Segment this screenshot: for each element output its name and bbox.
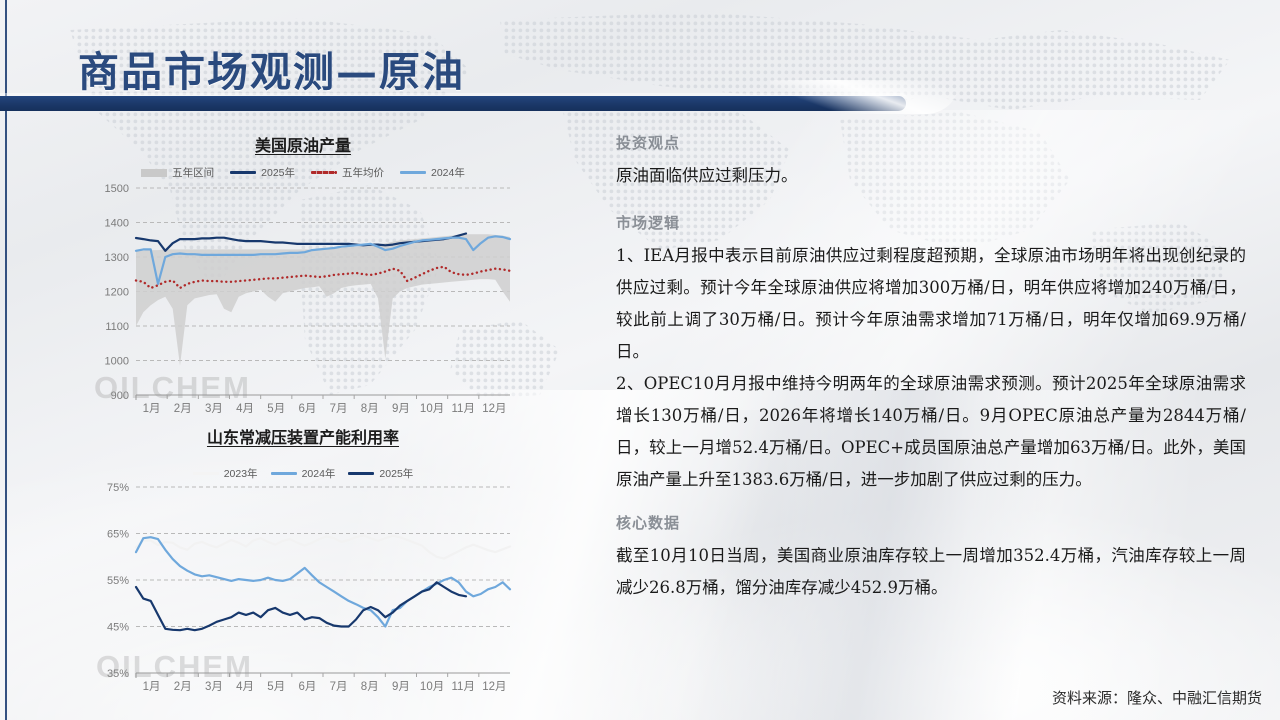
chart1-legend: 五年区间 2025年 五年均价 2024年 [88,165,518,180]
x-axis-tick-label: 9月 [392,681,410,693]
chart-shandong-cdu-utilization: 山东常减压装置产能利用率 2023年 2024年 2025年 35%45%55%… [88,424,518,703]
y-axis-tick-label: 75% [107,482,129,494]
section-paragraph: 2、OPEC10月月报中维持今明两年的全球原油需求预测。预计2025年全球原油需… [616,368,1246,496]
legend-label: 2023年 [224,466,258,481]
section-paragraph: 原油面临供应过剩压力。 [616,160,1246,192]
section-investment-view: 投资观点 原油面临供应过剩压力。 [616,132,1246,192]
chart1-title: 美国原油产量 [88,132,518,156]
series-line-2025年 [136,582,466,630]
section-core-data: 核心数据 截至10月10日当周，美国商业原油库存较上一周增加352.4万桶，汽油… [616,512,1246,604]
x-axis-tick-label: 5月 [267,681,285,693]
analysis-panel: 投资观点 原油面临供应过剩压力。 市场逻辑 1、IEA月报中表示目前原油供应过剩… [616,132,1246,604]
y-axis-tick-label: 45% [107,622,129,634]
legend-item-five-year-range: 五年区间 [141,165,214,180]
section-heading: 市场逻辑 [616,212,1246,233]
y-axis-tick-label: 1500 [105,183,129,195]
y-axis-tick-label: 1200 [105,287,129,299]
legend-swatch-line-icon [348,472,374,475]
y-axis-tick-label: 900 [111,390,129,402]
legend-item-2025: 2025年 [230,165,295,180]
chart1-plot: 9001000110012001300140015001月2月3月4月5月6月7… [88,180,518,425]
x-axis-tick-label: 10月 [420,403,444,415]
x-axis-tick-label: 7月 [330,681,348,693]
slide-root: 商品市场观测—原油 美国原油产量 五年区间 2025年 五年均价 2024年 [0,0,1280,720]
legend-item-five-year-average: 五年均价 [311,165,384,180]
source-note: 资料来源：隆众、中融汇信期货 [1052,687,1262,708]
legend-swatch-line-icon [193,472,219,475]
legend-item-2023: 2023年 [193,466,258,481]
x-axis-tick-label: 4月 [236,681,254,693]
x-axis-tick-label: 5月 [267,403,285,415]
x-axis-tick-label: 9月 [392,403,410,415]
x-axis-tick-label: 1月 [143,681,161,693]
y-axis-tick-label: 55% [107,575,129,587]
x-axis-tick-label: 6月 [298,403,316,415]
x-axis-tick-label: 12月 [482,681,506,693]
x-axis-tick-label: 2月 [174,681,192,693]
y-axis-tick-label: 65% [107,529,129,541]
legend-item-2025: 2025年 [348,466,413,481]
legend-label: 2024年 [302,466,336,481]
section-paragraph: 截至10月10日当周，美国商业原油库存较上一周增加352.4万桶，汽油库存较上一… [616,540,1246,604]
legend-item-2024: 2024年 [400,165,465,180]
legend-swatch-line-icon [400,171,426,174]
section-heading: 核心数据 [616,512,1246,533]
x-axis-tick-label: 3月 [205,681,223,693]
x-axis-tick-label: 11月 [452,681,475,693]
legend-item-2024: 2024年 [271,466,336,481]
header-band [0,96,906,111]
page-title: 商品市场观测—原油 [78,38,465,98]
chart2-title: 山东常减压装置产能利用率 [88,424,518,448]
y-axis-tick-label: 1100 [105,321,129,333]
x-axis-tick-label: 11月 [452,403,475,415]
x-axis-tick-label: 1月 [143,403,161,415]
section-paragraph: 1、IEA月报中表示目前原油供应过剩程度超预期，全球原油市场明年将出现创纪录的供… [616,240,1246,368]
x-axis-tick-label: 4月 [236,403,254,415]
chart2-plot: 35%45%55%65%75%1月2月3月4月5月6月7月8月9月10月11月1… [88,481,518,703]
y-axis-tick-label: 1400 [105,218,129,230]
series-line-2024年 [136,537,510,626]
legend-swatch-line-icon [271,472,297,475]
x-axis-tick-label: 10月 [420,681,444,693]
series-line-2023年 [136,535,510,558]
x-axis-tick-label: 2月 [174,403,192,415]
y-axis-tick-label: 1300 [105,252,129,264]
x-axis-tick-label: 12月 [482,403,506,415]
x-axis-tick-label: 3月 [205,403,223,415]
legend-label: 2025年 [379,466,413,481]
chart2-legend: 2023年 2024年 2025年 [88,466,518,481]
x-axis-tick-label: 8月 [361,681,379,693]
legend-swatch-dotted-icon [311,171,337,174]
legend-label: 五年均价 [342,165,384,180]
legend-label: 2025年 [261,165,295,180]
legend-label: 2024年 [431,165,465,180]
x-axis-tick-label: 7月 [330,403,348,415]
x-axis-tick-label: 8月 [361,403,379,415]
y-axis-tick-label: 1000 [105,356,129,368]
chart-us-crude-production: 美国原油产量 五年区间 2025年 五年均价 2024年 90010001100… [88,132,518,425]
y-axis-tick-label: 35% [107,668,129,680]
legend-swatch-band-icon [141,169,167,177]
x-axis-tick-label: 6月 [298,681,316,693]
section-heading: 投资观点 [616,132,1246,153]
legend-label: 五年区间 [172,165,214,180]
legend-swatch-line-icon [230,171,256,174]
section-market-logic: 市场逻辑 1、IEA月报中表示目前原油供应过剩程度超预期，全球原油市场明年将出现… [616,212,1246,496]
